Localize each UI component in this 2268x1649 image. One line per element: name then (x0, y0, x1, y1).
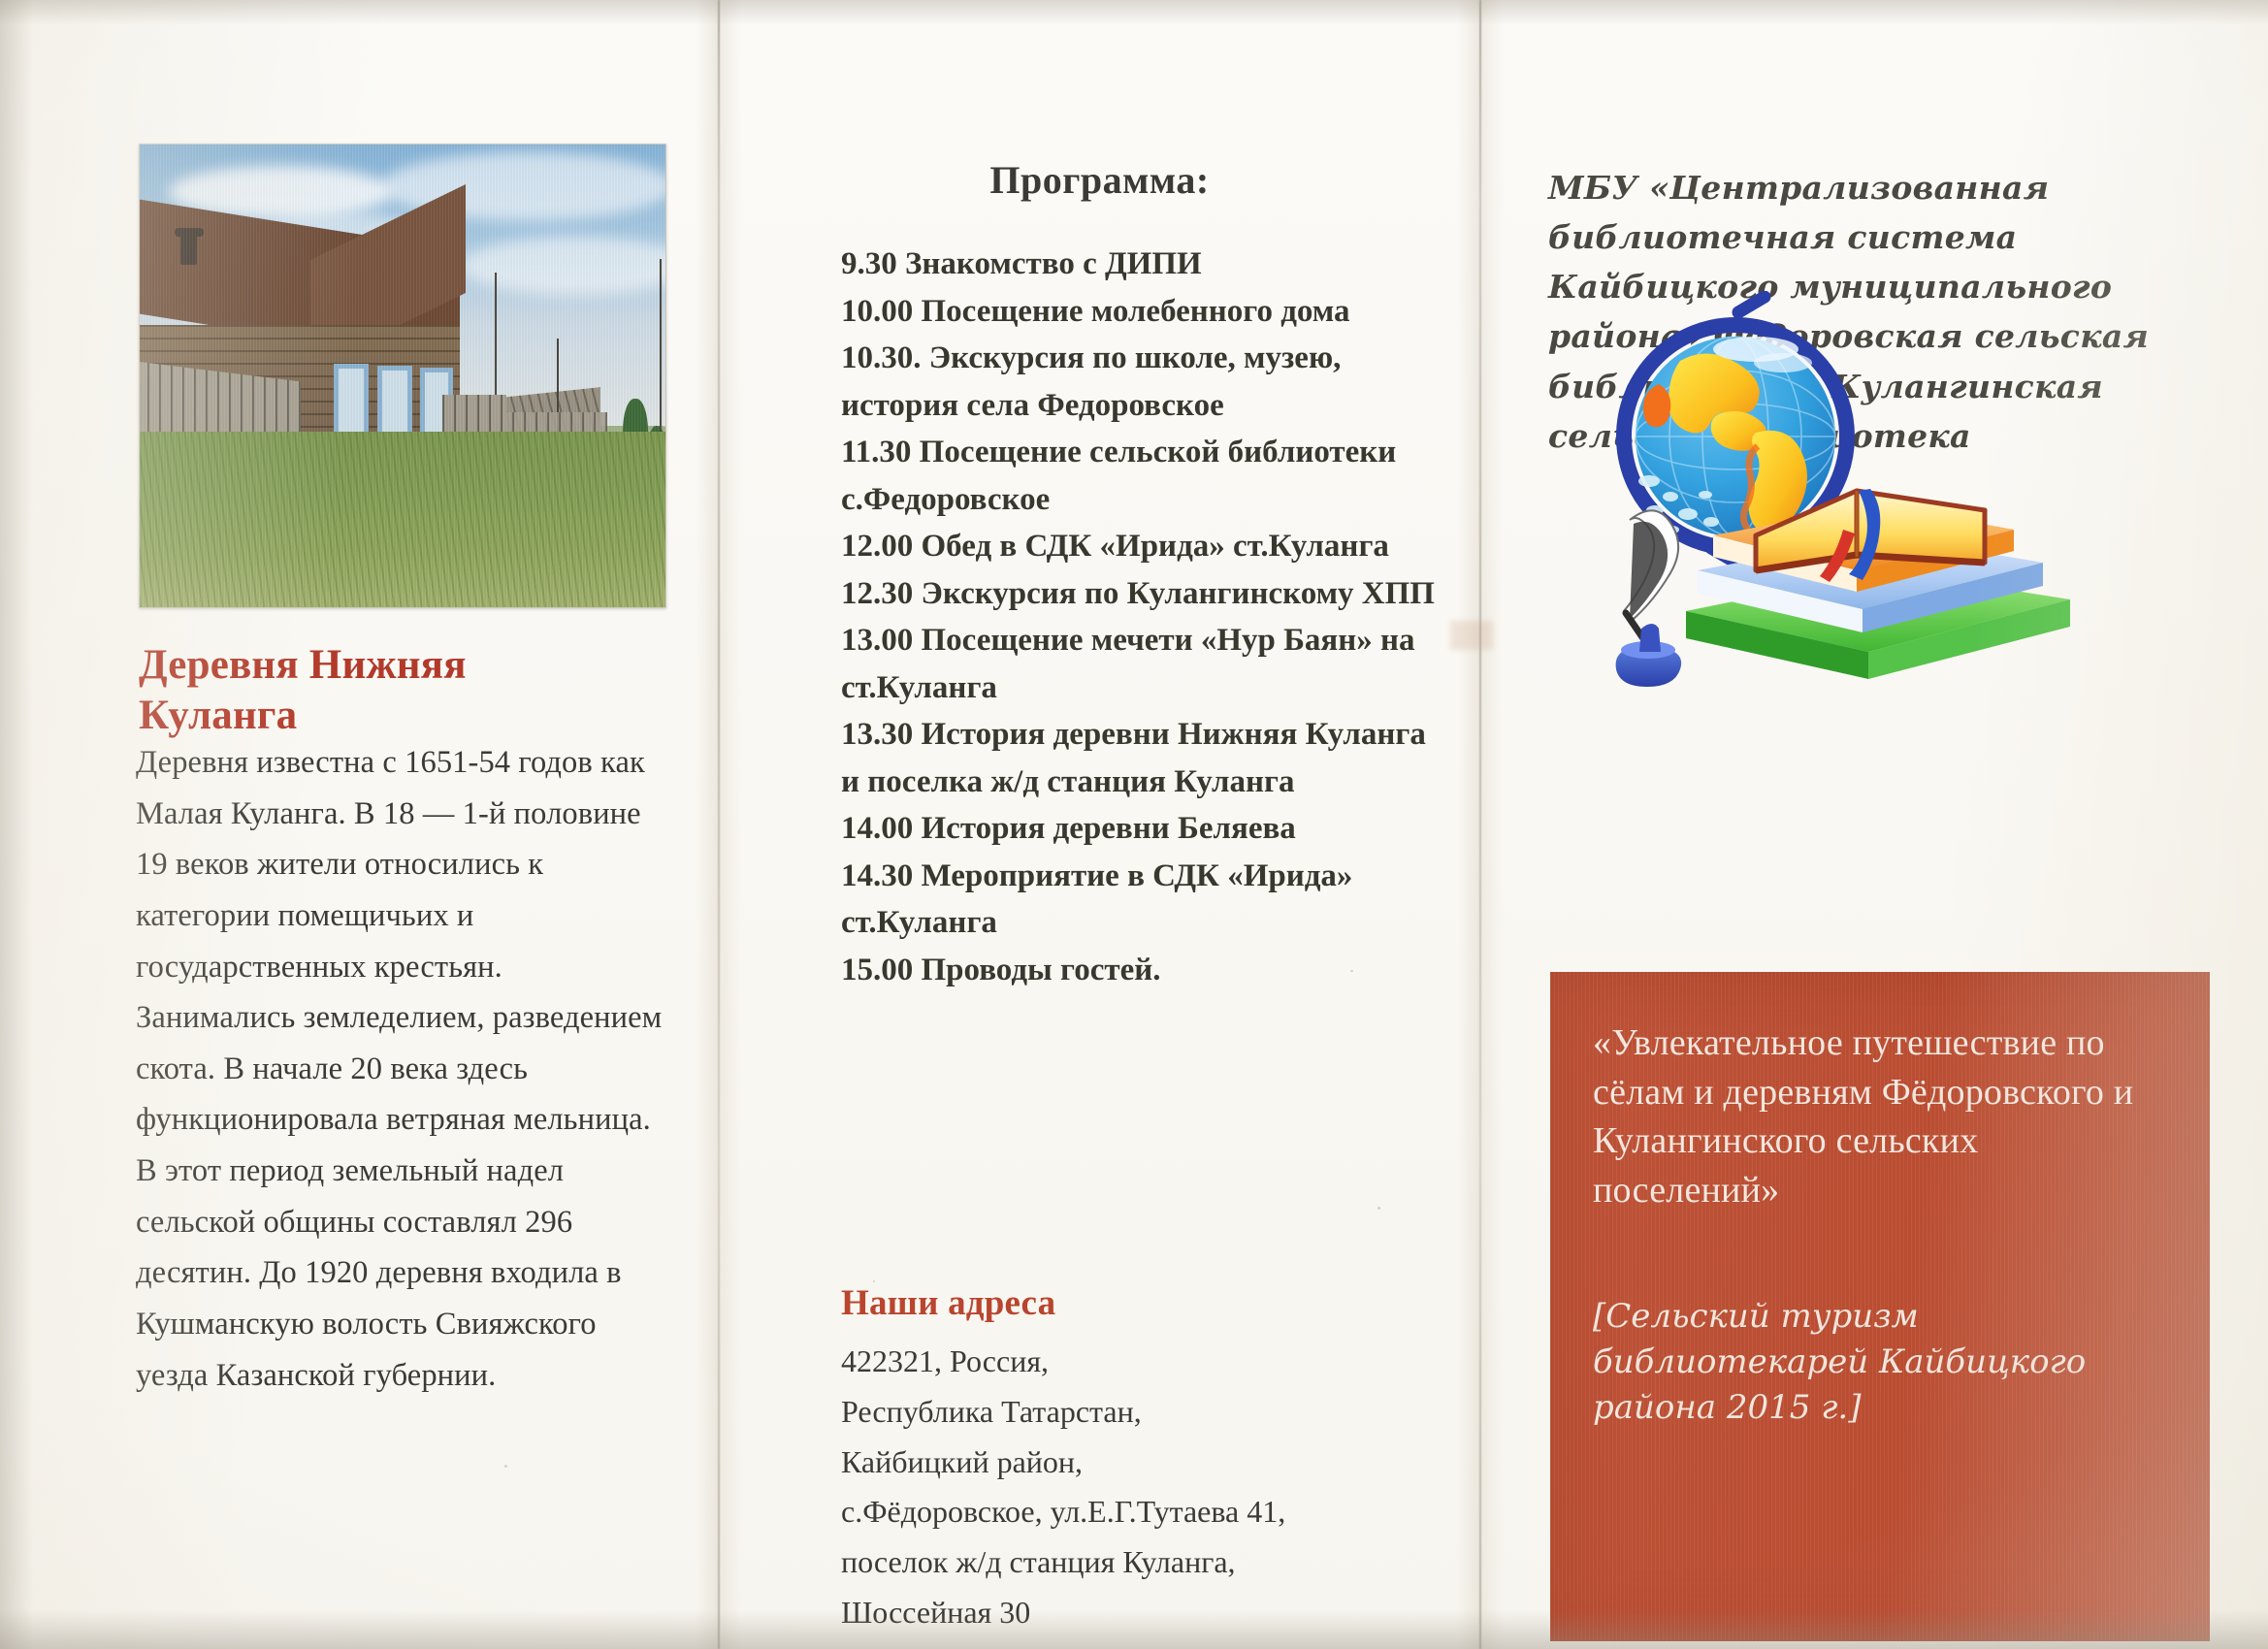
address-line: Кайбицкий район, (841, 1438, 1442, 1488)
fold-crease-right (1473, 0, 1488, 1649)
program-item: 13.30 История деревни Нижняя Куланга и п… (841, 711, 1442, 805)
fold-crease-left (711, 0, 727, 1649)
address-line: поселок ж/д станция Куланга, (841, 1537, 1442, 1588)
globe-books-quill-clipart (1566, 291, 2109, 698)
credit-text: [Сельский туризм библиотекарей Кайбицког… (1593, 1294, 2155, 1431)
brochure-page: Деревня Нижняя Куланга Деревня известна … (0, 0, 2268, 1649)
addresses-heading: Наши адреса (841, 1282, 1055, 1324)
village-title: Деревня Нижняя Куланга (139, 640, 546, 742)
program-item: 14.00 История деревни Беляева (841, 805, 1442, 853)
program-item: 12.30 Экскурсия по Кулангинскому ХПП (841, 570, 1442, 618)
address-line: с.Фёдоровское, ул.Е.Г.Тутаева 41, (841, 1487, 1442, 1537)
program-item: 15.00 Проводы гостей. (841, 947, 1442, 994)
program-item: 9.30 Знакомство с ДИПИ (841, 241, 1442, 288)
slogan-panel: «Увлекательное путешествие по сёлам и де… (1550, 972, 2210, 1641)
addresses-block: 422321, Россия, Республика Татарстан, Ка… (841, 1337, 1442, 1638)
village-description: Деревня известна с 1651-54 годов как Мал… (136, 737, 664, 1401)
village-photo (139, 144, 666, 608)
photo-scan-texture (140, 145, 665, 607)
panel-left: Деревня Нижняя Куланга Деревня известна … (0, 0, 711, 1649)
panel-right: МБУ «Централизованная библиотечная систе… (1488, 0, 2268, 1649)
address-line: Республика Татарстан, (841, 1387, 1442, 1438)
program-item: 13.00 Посещение мечети «Нур Баян» на ст.… (841, 617, 1442, 711)
program-item: 14.30 Мероприятие в СДК «Ирида» ст.Кулан… (841, 853, 1442, 947)
inkwell-icon (1616, 624, 1682, 687)
address-line: Шоссейная 30 (841, 1588, 1442, 1638)
program-list: 9.30 Знакомство с ДИПИ 10.00 Посещение м… (841, 241, 1442, 993)
program-heading: Программа: (727, 157, 1473, 203)
slogan-text: «Увлекательное путешествие по сёлам и де… (1593, 1018, 2155, 1214)
program-item: 10.30. Экскурсия по школе, музею, истори… (841, 335, 1442, 429)
panel-middle: Программа: 9.30 Знакомство с ДИПИ 10.00 … (727, 0, 1473, 1649)
address-line: 422321, Россия, (841, 1337, 1442, 1387)
program-item: 11.30 Посещение сельской библиотеки с.Фе… (841, 429, 1442, 523)
program-item: 10.00 Посещение молебенного дома (841, 288, 1442, 336)
program-item: 12.00 Обед в СДК «Ирида» ст.Куланга (841, 523, 1442, 570)
